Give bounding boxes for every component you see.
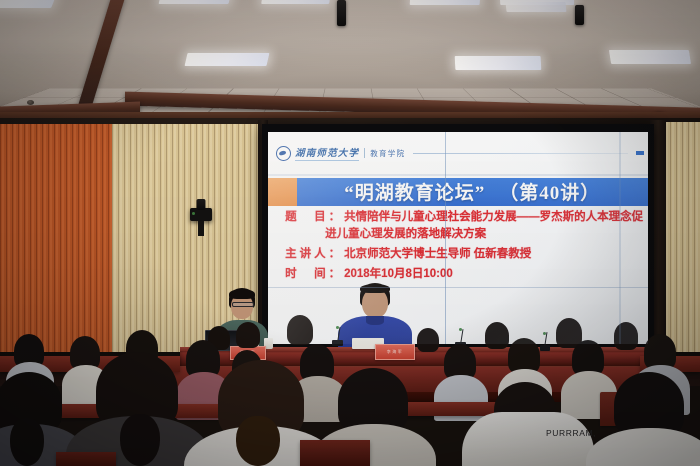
slide-title-sub: （第40讲） [499,178,600,205]
speaker-right-collar [366,316,384,325]
slide-text-topic: 共情陪伴与儿童心理社会能力发展——罗杰斯的人本理念促 [344,211,643,223]
audience-torso-printed-shirt [462,412,594,466]
audience-member [614,322,638,350]
audience-hair [236,322,260,348]
audience-member [186,340,220,378]
slide-line-speaker: 主讲人：北京师范大学博士生导师 伍新春教授 [285,247,635,262]
header-accent-dot [636,151,644,155]
speaker-right-fringe [360,284,390,293]
audience-hair [287,315,313,345]
slide-title-bar: “明湖教育论坛” （第40讲） [297,178,649,207]
panel-light [0,0,57,8]
slide-label-topic: 题 目： [285,211,343,223]
panel-light [159,0,232,4]
slide-body: 题 目：共情陪伴与儿童心理社会能力发展——罗杰斯的人本理念促 进儿童心理发展的落… [285,210,635,283]
panelist-left-glasses [232,302,254,307]
slide-line-topic: 题 目：共情陪伴与儿童心理社会能力发展——罗杰斯的人本理念促 [285,210,635,225]
panel-light [455,56,542,70]
slide-title-main: “明湖教育论坛” [344,178,485,205]
audience-member [508,338,540,374]
panel-light [609,50,691,64]
foreground-desk [300,440,370,466]
microphone-head [336,326,339,329]
audience-member-front [338,368,408,434]
slide-line-topic-cont: 进儿童心理发展的落地解决方案 [285,227,635,242]
slide-label-speaker: 主讲人： [285,248,343,260]
department-name: 教育学院 [370,148,405,159]
panel-light [410,0,481,5]
microphone-head [543,332,546,335]
panel-light [261,0,331,4]
wall-panel-beige-right [664,122,700,356]
audience-member-front [614,372,684,438]
audience-member [417,328,439,352]
slide-line-time: 时 间：2018年10月8日10:00 [285,267,635,282]
audience-member [236,322,260,348]
hunan-normal-university-logo-icon [276,146,291,161]
audience-member [287,315,313,345]
wall-camera-bracket [198,221,204,236]
title-orange-block [268,178,297,207]
presentation-slide: 湖南师范大学 教育学院 “明湖教育论坛” （第40讲） 题 目：共情陪伴与儿童心… [268,132,648,344]
audience-hair [485,322,509,349]
shirt-print-text: PURRRAM, [546,428,596,438]
audience-member [300,344,334,382]
panelist-left-fringe [229,289,255,299]
audience-member [572,340,604,376]
audience-member [14,334,44,368]
slide-header: 湖南师范大学 教育学院 [268,132,648,174]
panel-light [505,2,566,12]
lecture-hall-photo: 湖南师范大学 教育学院 “明湖教育论坛” （第40讲） 题 目：共情陪伴与儿童心… [0,0,700,466]
audience-torso [586,428,700,466]
slide-label-time: 时 间： [285,268,343,280]
header-rule [413,153,628,154]
ponytail [236,416,280,466]
panel-light [184,53,269,66]
microphone [540,345,550,351]
wall-camera-icon [190,208,212,221]
name-placard-right: 李海军 [375,344,415,360]
smoke-detector [27,100,34,105]
ponytail [10,418,44,466]
audience-hair [417,328,439,352]
ceiling-speaker [337,0,346,26]
audience-member [644,334,676,370]
wall-panel-orange [0,124,112,356]
slide-title-band: “明湖教育论坛” （第40讲） [268,178,648,207]
ponytail [120,414,160,466]
name-placard-right-text: 李海军 [387,349,404,355]
slide-text-topic-cont: 进儿童心理发展的落地解决方案 [325,228,486,240]
logo-divider [364,148,365,158]
slide-text-speaker: 北京师范大学博士生导师 伍新春教授 [344,248,531,260]
foreground-desk [56,452,116,466]
audience-hair [614,322,638,350]
university-name: 湖南师范大学 [295,145,359,161]
microphone-head [459,328,462,331]
audience-member [444,344,476,380]
ceiling-speaker [575,5,584,25]
audience-member [485,322,509,349]
slide-text-time: 2018年10月8日10:00 [344,268,453,280]
